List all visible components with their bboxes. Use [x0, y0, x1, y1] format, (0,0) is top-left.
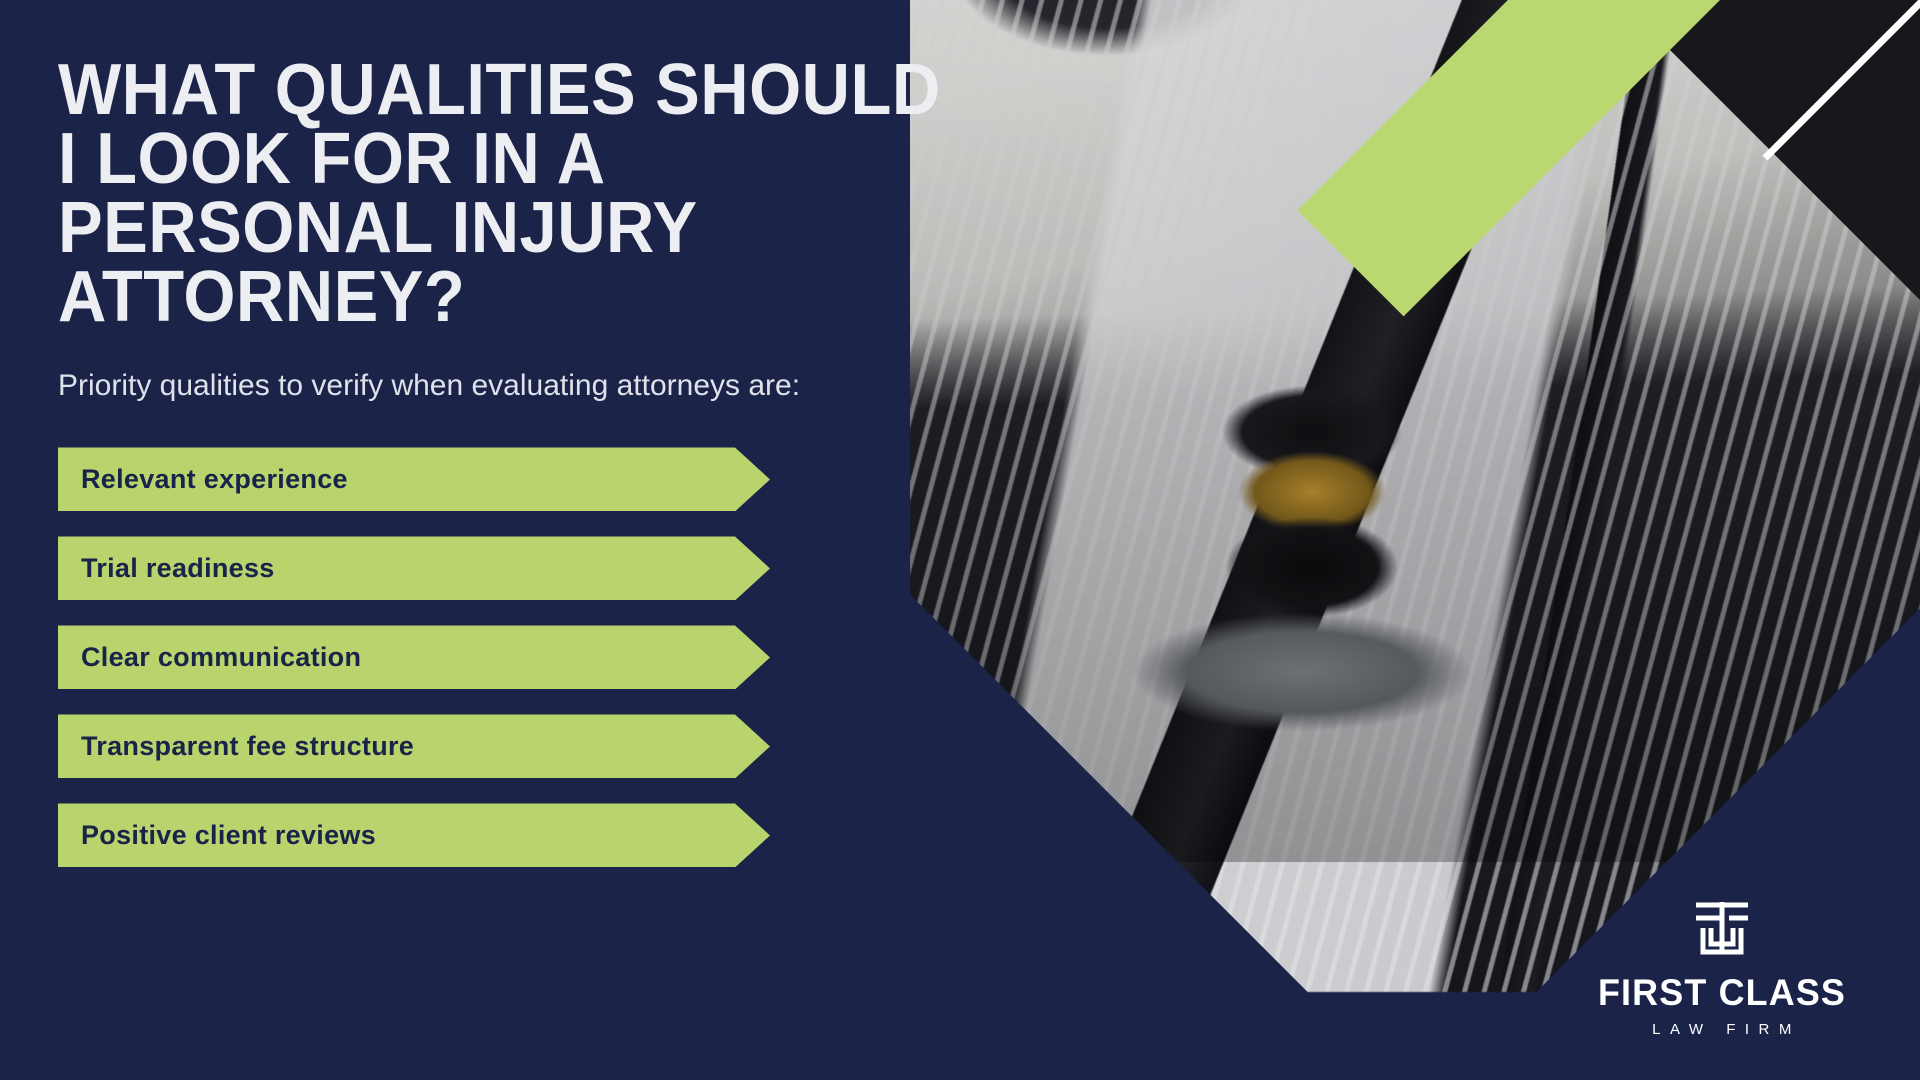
list-item-label: Transparent fee structure — [81, 731, 414, 762]
list-item: Positive client reviews — [58, 803, 770, 867]
qualities-list: Relevant experience Trial readiness Clea… — [58, 447, 1010, 867]
list-item: Relevant experience — [58, 447, 770, 511]
content-column: WHAT QUALITIES SHOULD I LOOK FOR IN A PE… — [0, 0, 1010, 1080]
list-item-label: Positive client reviews — [81, 820, 376, 851]
brand-logo: FIRST CLASS LAW FIRM — [1572, 898, 1872, 1038]
page-title: WHAT QUALITIES SHOULD I LOOK FOR IN A PE… — [58, 56, 943, 332]
logo-tagline: LAW FIRM — [1572, 1021, 1872, 1038]
list-item-label: Clear communication — [81, 642, 361, 673]
logo-monogram-icon — [1691, 898, 1753, 960]
list-item: Transparent fee structure — [58, 714, 770, 778]
list-item: Trial readiness — [58, 536, 770, 600]
list-item-label: Trial readiness — [81, 553, 275, 584]
subtitle-text: Priority qualities to verify when evalua… — [58, 366, 858, 405]
list-item-label: Relevant experience — [81, 464, 348, 495]
logo-name: FIRST CLASS — [1577, 974, 1868, 1011]
list-item: Clear communication — [58, 625, 770, 689]
